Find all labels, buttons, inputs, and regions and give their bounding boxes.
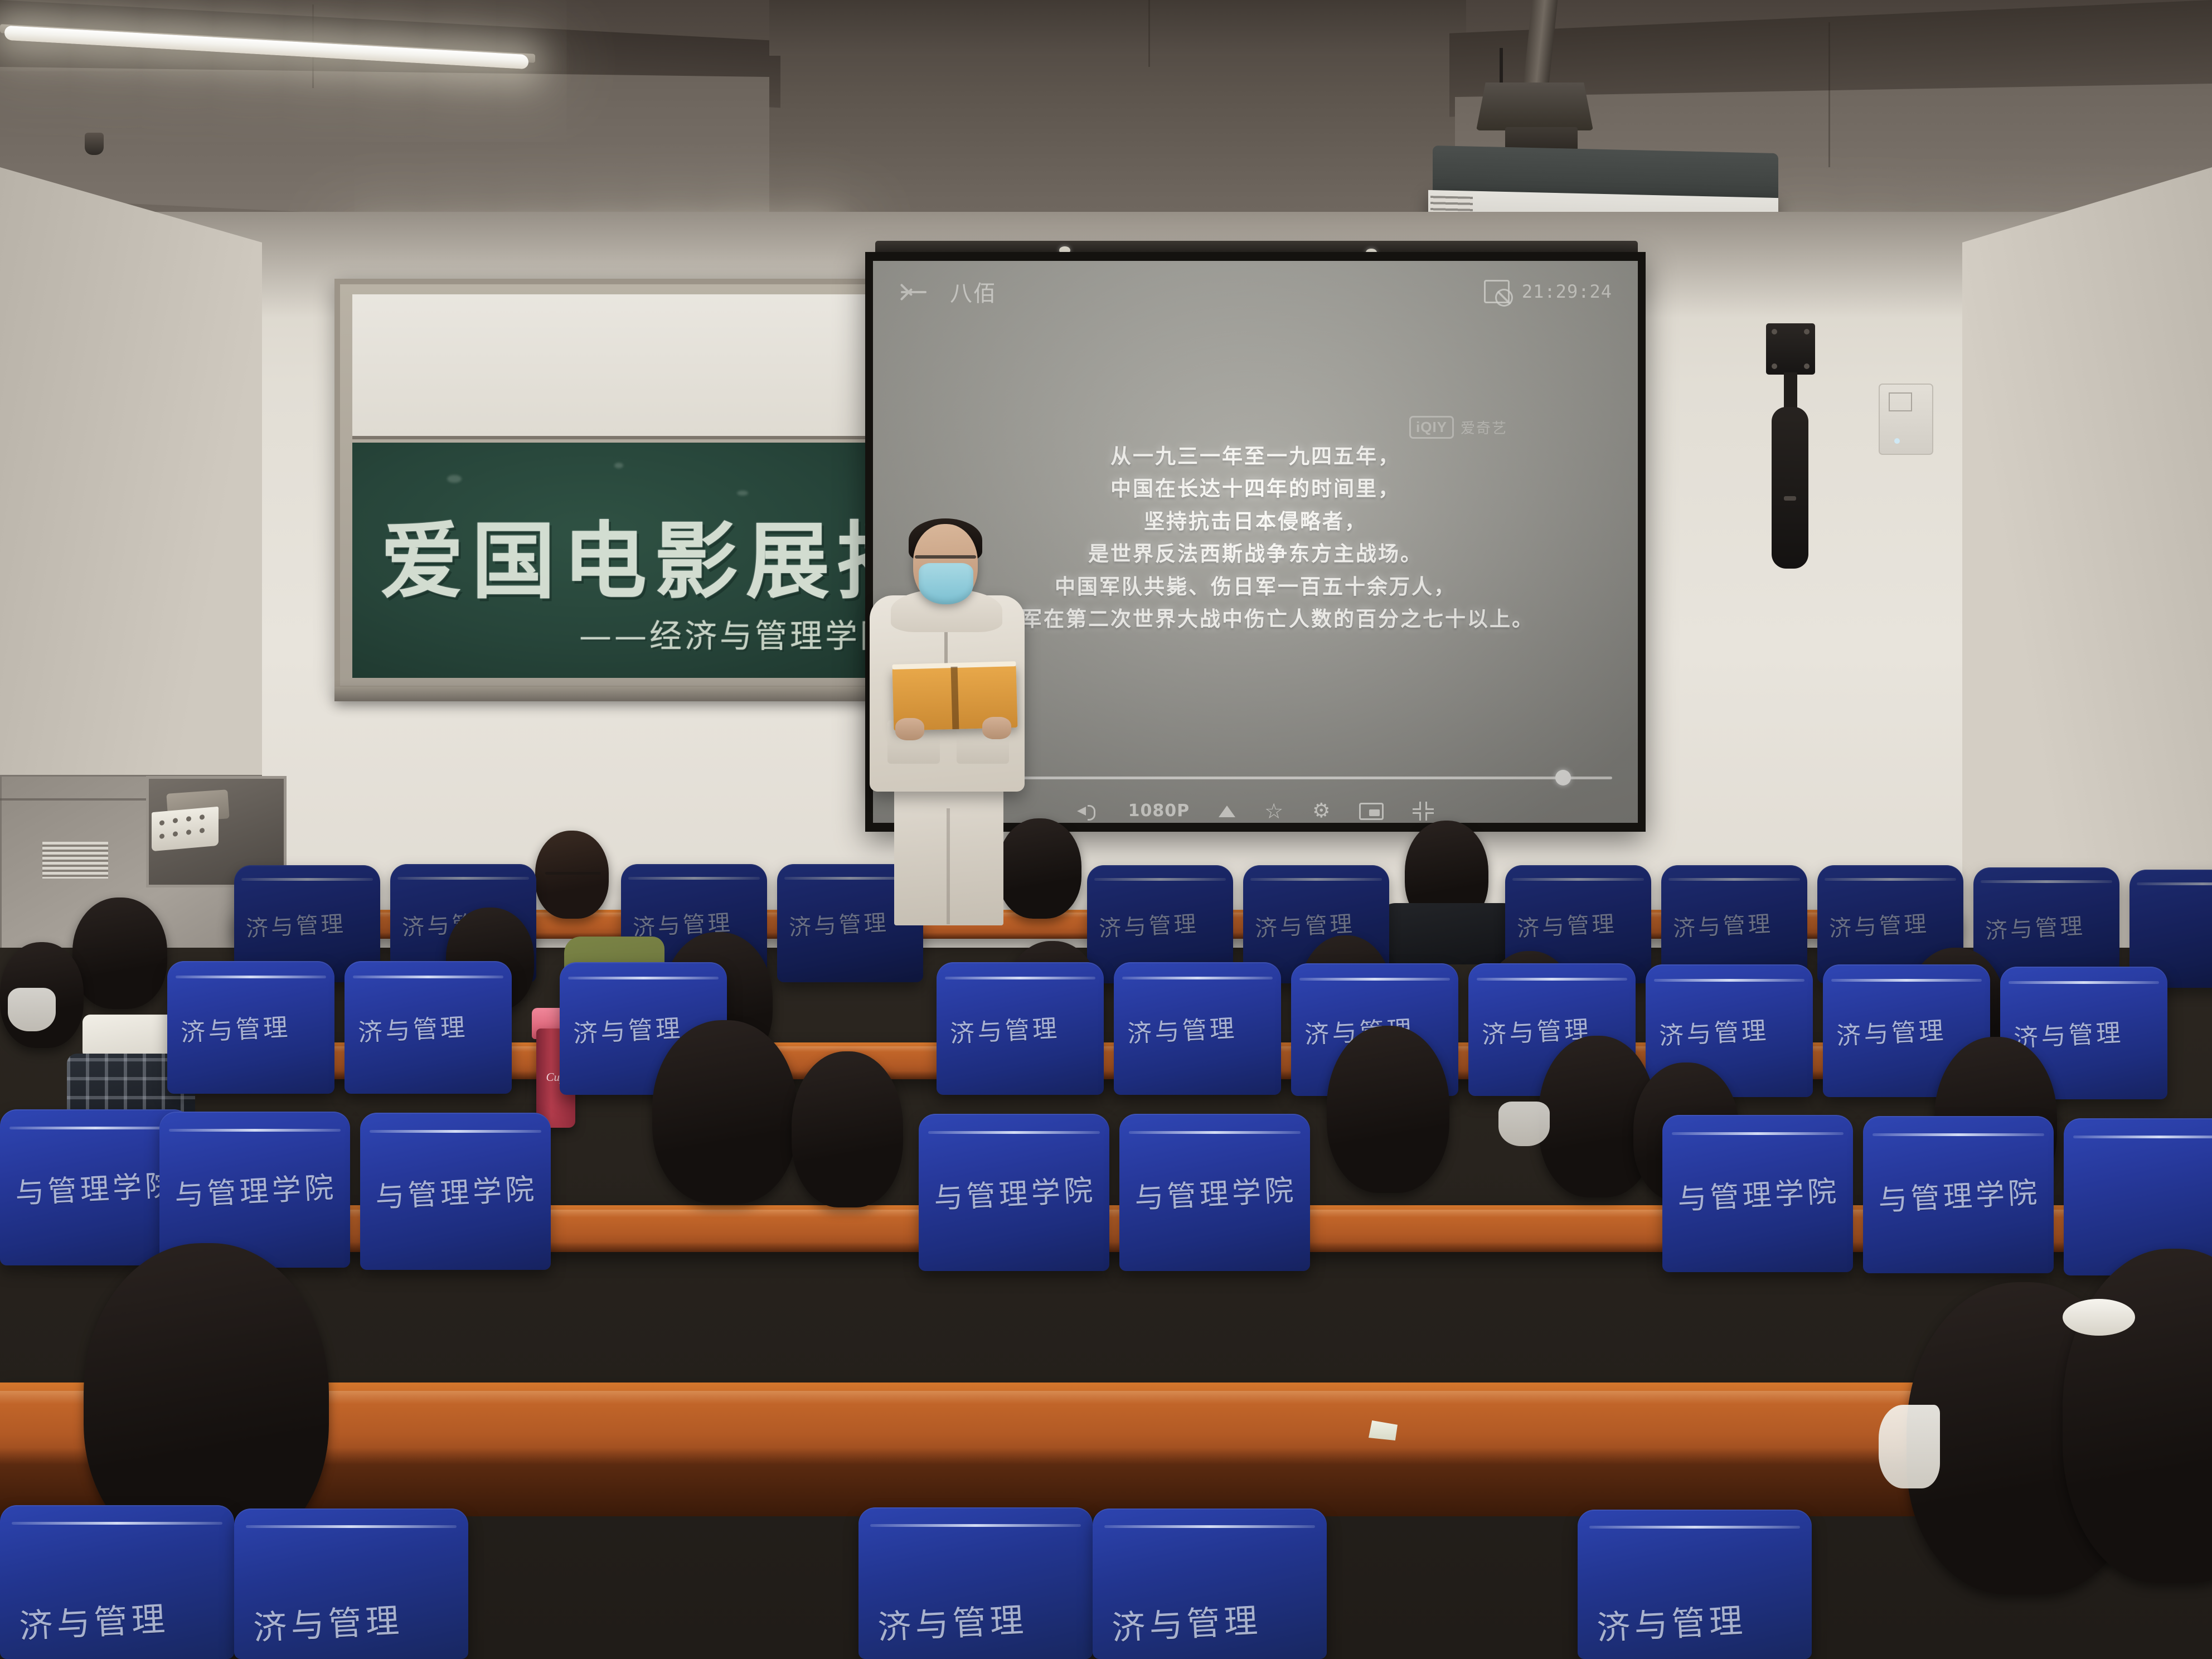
blackboard-headline: 爱国电影展播 (380, 494, 901, 615)
student-head (652, 1020, 797, 1204)
seat-cover-text: 与管理学院 (1878, 1168, 2044, 1219)
presenter-hand-right (982, 717, 1011, 739)
blackboard-attribution: ——经济与管理学院 (579, 610, 895, 657)
smoke-detector (85, 133, 104, 155)
chalk-tray (334, 687, 937, 701)
seat-cover-text: 济与管理 (876, 1590, 1080, 1649)
whiteboard-panel (352, 294, 919, 439)
seat-cover-text: 济与管理 (2013, 1011, 2158, 1054)
blackboard: 爱国电影展播 ——经济与管理学院 (334, 279, 937, 691)
seat[interactable]: 济与管理 (345, 961, 512, 1094)
student-head (72, 898, 167, 1009)
seat-cover-text: 济与管理 (357, 1005, 503, 1048)
seat[interactable]: 济与管理 (1114, 962, 1281, 1095)
seat[interactable]: 济与管理 (937, 962, 1104, 1095)
presenter-leg-split (947, 808, 950, 924)
student-head (998, 818, 1081, 919)
glasses-icon (84, 948, 149, 950)
chalkboard-surface: 爱国电影展播 ——经济与管理学院 (352, 443, 919, 678)
presenter-hand-left (895, 718, 924, 740)
light-switch[interactable] (1879, 384, 1933, 455)
seat[interactable]: 与管理学院 (1863, 1116, 2054, 1273)
seat-cover-text: 济与管理 (1828, 904, 1956, 943)
seat[interactable]: 与管理学院 (919, 1114, 1109, 1271)
student-shoulders (1377, 903, 1522, 964)
seat-foreground[interactable]: 济与管理 (1093, 1508, 1327, 1659)
face-mask (1498, 1102, 1550, 1146)
seat-foreground[interactable]: 济与管理 (858, 1507, 1093, 1659)
seat[interactable]: 与管理学院 (1662, 1115, 1853, 1272)
seat[interactable]: 与管理学院 (360, 1113, 551, 1270)
glasses-icon (915, 555, 976, 559)
student-head (1327, 1026, 1449, 1193)
speaker-mount-plate (1766, 323, 1815, 375)
seat-foreground[interactable]: 济与管理 (0, 1505, 234, 1659)
speaker-arm (1784, 372, 1797, 411)
seat-cover-text: 济与管理 (1658, 1008, 1804, 1051)
student-head (792, 1051, 903, 1207)
seat-cover-text: 济与管理 (1127, 1006, 1272, 1049)
seat-cover-text: 济与管理 (252, 1590, 455, 1650)
ceiling-beam-center (769, 0, 1466, 56)
glasses-icon (545, 872, 601, 875)
seat-cover-text: 济与管理 (1110, 1590, 1314, 1650)
seat-cover-text: 济与管理 (18, 1589, 221, 1648)
seat-cover-text: 与管理学院 (14, 1161, 181, 1211)
seat-cover-text: 济与管理 (1516, 904, 1643, 943)
seat[interactable]: 济与管理 (167, 961, 334, 1094)
seat[interactable]: 与管理学院 (1119, 1114, 1310, 1271)
seat-cover-text: 与管理学院 (1134, 1166, 1300, 1216)
seat-cover-text: 与管理学院 (375, 1165, 541, 1215)
seat-cover-text: 济与管理 (180, 1005, 326, 1048)
seat-foreground[interactable]: 济与管理 (234, 1508, 468, 1659)
face-mask (8, 988, 56, 1031)
seat-cover-text: 与管理学院 (933, 1166, 1099, 1216)
classroom-photo: 爱国电影展播 ——经济与管理学院 八佰 21:29:24 iQIY 爱奇艺 (0, 0, 2212, 1659)
seat-cover-text: 与管理学院 (174, 1163, 340, 1214)
seat-cover-text: 济与管理 (949, 1006, 1095, 1049)
hair-clip (2063, 1299, 2135, 1336)
face-mask (919, 563, 973, 604)
seat-cover-text: 济与管理 (1836, 1008, 1981, 1051)
wall-speaker (1772, 407, 1808, 569)
seat-cover-text: 济与管理 (1985, 906, 2112, 945)
seat-cover-text: 济与管理 (1098, 904, 1225, 943)
face-mask (1879, 1405, 1940, 1488)
ceiling-seam (1828, 22, 1830, 167)
seat-foreground[interactable]: 济与管理 (1578, 1510, 1812, 1659)
niche-basket (152, 807, 219, 851)
student-head (535, 831, 609, 919)
seat-cover-text: 济与管理 (1672, 904, 1799, 943)
seat-cover-text: 与管理学院 (1677, 1167, 1843, 1217)
seat-cover-text: 济与管理 (1595, 1591, 1799, 1650)
ceiling-seam (1148, 0, 1150, 67)
cabinet-vent (42, 842, 108, 879)
seat-cover-text: 济与管理 (245, 904, 372, 943)
projector-ceiling-bracket (1476, 83, 1593, 130)
seat-cover-text: 济与管理 (1254, 904, 1381, 943)
